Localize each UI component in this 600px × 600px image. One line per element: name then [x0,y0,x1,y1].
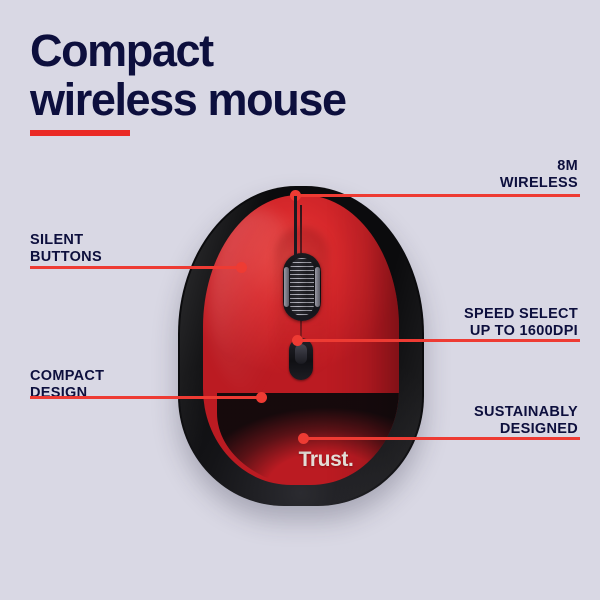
callout-speed-select-line-2: UP TO 1600DPI [464,323,578,340]
scroll-wheel [290,258,314,316]
leader-line-compact-design [30,396,262,399]
leader-line-silent-buttons [30,266,242,269]
leader-dot-sustainably-designed [298,433,309,444]
page-title: Compact wireless mouse [30,26,460,124]
callout-sustainably-designed: SUSTAINABLY DESIGNED [474,404,578,438]
leader-dot-speed-select [292,335,303,346]
leader-dot-silent-buttons [236,262,247,273]
product-feature-graphic: Compact wireless mouse Trust. 8M WIR [0,0,600,600]
leader-stem-wireless [294,196,297,258]
callout-wireless-line-2: WIRELESS [500,175,578,192]
dpi-button-inner [295,344,307,364]
title-underline-rule [30,130,130,136]
callout-silent-buttons-line-2: BUTTONS [30,249,102,266]
leader-line-speed-select [300,339,580,342]
leader-dot-compact-design [256,392,267,403]
callout-wireless-line-1: 8M [500,158,578,175]
callout-wireless: 8M WIRELESS [500,158,578,192]
callout-speed-select: SPEED SELECT UP TO 1600DPI [464,306,578,340]
callout-speed-select-line-1: SPEED SELECT [464,306,578,323]
callout-compact-design-line-2: DESIGN [30,385,104,402]
scroll-wheel-housing [283,253,321,321]
brand-wordmark: Trust. [203,448,399,472]
callout-silent-buttons-line-1: SILENT [30,232,102,249]
scroll-wheel-side-left [284,267,289,307]
scroll-wheel-side-right [315,267,320,307]
headline-line-1: Compact [30,26,460,75]
mouse-illustration: Trust. [178,186,424,506]
leader-line-sustainably-designed [306,437,580,440]
callout-compact-design-line-1: COMPACT [30,368,104,385]
callout-sustainably-designed-line-2: DESIGNED [474,421,578,438]
leader-line-wireless [298,194,580,197]
callout-silent-buttons: SILENT BUTTONS [30,232,102,266]
headline-line-2: wireless mouse [30,75,460,124]
callout-sustainably-designed-line-1: SUSTAINABLY [474,404,578,421]
